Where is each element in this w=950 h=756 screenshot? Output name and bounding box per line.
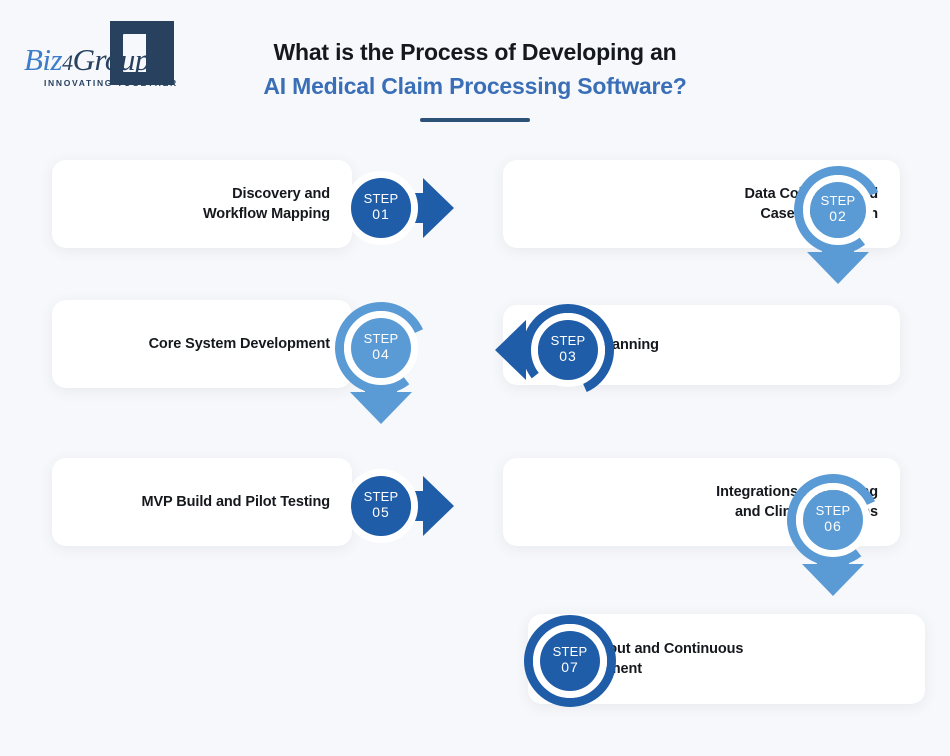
badge-core-disc: [351, 178, 411, 238]
step-badge-03[interactable]: STEP03: [476, 258, 660, 442]
step-badge-graphic-03: [476, 258, 660, 442]
badge-core-disc: [351, 476, 411, 536]
title-line-2: AI Medical Claim Processing Software?: [225, 72, 725, 102]
title-line-1: What is the Process of Developing an: [225, 38, 725, 67]
badge-core-disc: [810, 182, 866, 238]
logo-wordmark: Biz4Group: [24, 42, 150, 78]
step-badge-graphic-04: [289, 256, 473, 440]
step-badge-06[interactable]: STEP06: [741, 428, 925, 612]
step-badge-graphic-05: [289, 414, 473, 598]
page-title: What is the Process of Developing an AI …: [225, 38, 725, 122]
logo-tagline: INNOVATING TOGETHER: [44, 78, 178, 88]
step-badge-graphic-06: [741, 428, 925, 612]
step-badge-07[interactable]: STEP07: [478, 569, 662, 753]
logo-word-biz: Biz: [24, 42, 62, 77]
badge-core-disc: [803, 490, 863, 550]
step-badge-04[interactable]: STEP04: [289, 256, 473, 440]
header: Biz4Group INNOVATING TOGETHER What is th…: [0, 0, 950, 140]
logo-word-four: 4: [62, 50, 73, 75]
badge-core-disc: [540, 631, 600, 691]
step-badge-02[interactable]: STEP02: [748, 120, 928, 300]
badge-core-disc: [538, 320, 598, 380]
step-badge-graphic-07: [478, 569, 662, 753]
process-steps-container: Discovery andWorkflow MappingSTEP01Data …: [0, 140, 950, 756]
step-badge-graphic-02: [748, 120, 928, 300]
brand-logo[interactable]: Biz4Group INNOVATING TOGETHER: [18, 20, 193, 90]
logo-word-group: Group: [73, 42, 150, 77]
badge-core-disc: [351, 318, 411, 378]
step-badge-05[interactable]: STEP05: [289, 414, 473, 598]
